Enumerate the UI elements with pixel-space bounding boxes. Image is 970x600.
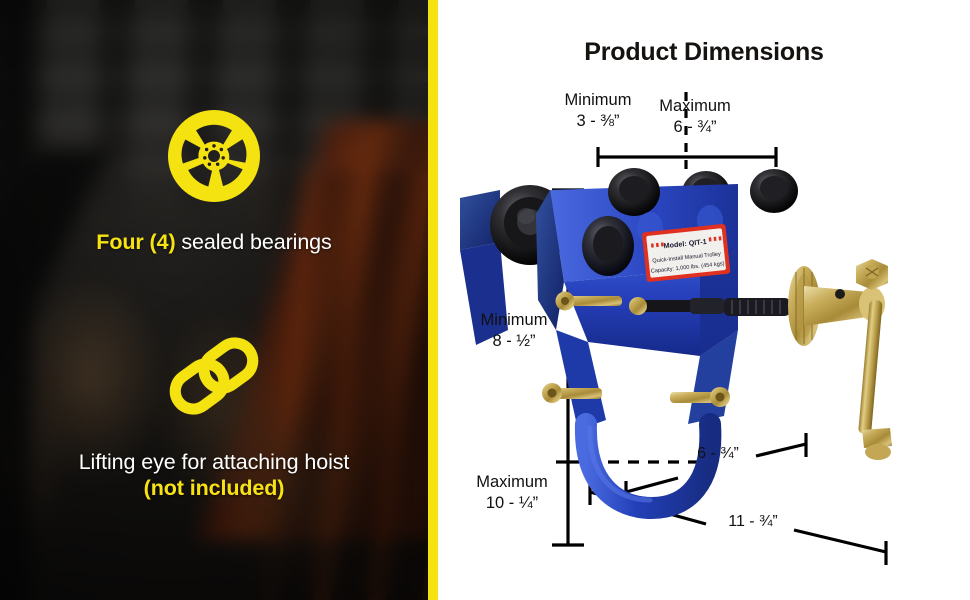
left-minimum-label: Minimum (458, 310, 570, 331)
top-maximum-label: Maximum (633, 96, 757, 117)
depth-line-left (626, 478, 678, 492)
feature-sealed-bearings: Four (4) sealed bearings (0, 110, 428, 255)
left-maximum-value: 10 - ¼” (456, 493, 568, 514)
top-maximum-label-group: Maximum 6 - ¾” (633, 96, 757, 138)
shaft-threads (732, 300, 780, 314)
overall-width-dimension-value: 11 - ¾” (708, 512, 798, 532)
feature-lifting-note: (not included) (0, 475, 428, 501)
feature-bearings-rest: sealed bearings (176, 230, 332, 254)
yellow-divider-bar (428, 0, 438, 600)
left-minimum-label-group: Minimum 8 - ½” (458, 310, 570, 352)
left-feature-panel: Four (4) sealed bearings Lifting eye for… (0, 0, 428, 600)
depth-line-right (756, 444, 806, 456)
product-spec-label: Model: QIT-1 Quick-Install Manual Trolle… (642, 224, 731, 283)
left-minimum-value: 8 - ½” (458, 331, 570, 352)
top-maximum-value: 6 - ¾” (633, 117, 757, 138)
left-maximum-label: Maximum (456, 472, 568, 493)
background-vignette-overlay (0, 0, 428, 600)
lifting-eye-u-bolt (586, 424, 710, 508)
left-maximum-label-group: Maximum 10 - ¼” (456, 472, 568, 514)
depth-dimension-value: 6 - ¾” (678, 444, 758, 464)
feature-lifting-caption: Lifting eye for attaching hoist (not inc… (0, 449, 428, 501)
feature-bearings-highlight: Four (4) (96, 230, 175, 254)
feature-lifting-rest: Lifting eye for attaching hoist (79, 450, 350, 474)
handle-rod (858, 300, 892, 460)
chain-link-icon (0, 330, 428, 427)
bearing-wheel-icon (0, 110, 428, 207)
infographic-canvas: Four (4) sealed bearings Lifting eye for… (0, 0, 970, 600)
overall-line-right (794, 530, 886, 552)
feature-lifting-eye: Lifting eye for attaching hoist (not inc… (0, 330, 428, 501)
right-dimensions-panel: Product Dimensions (438, 0, 970, 600)
feature-bearings-caption: Four (4) sealed bearings (0, 229, 428, 255)
